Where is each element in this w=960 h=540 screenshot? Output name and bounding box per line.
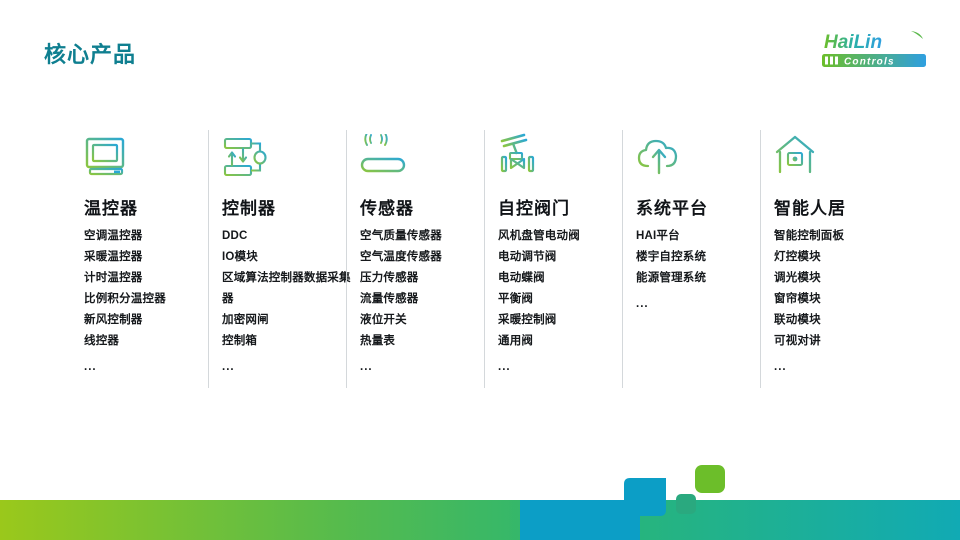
list-item: 电动蝶阀 bbox=[498, 268, 628, 289]
list-item-more: ... bbox=[84, 357, 214, 378]
bottom-gradient-bar bbox=[0, 500, 960, 540]
controller-network-icon bbox=[222, 128, 352, 178]
list-item: 电动调节阀 bbox=[498, 247, 628, 268]
list-item: 流量传感器 bbox=[360, 289, 490, 310]
list-item: 空气质量传感器 bbox=[360, 226, 490, 247]
list-item: 联动模块 bbox=[774, 310, 904, 331]
list-item: 计时温控器 bbox=[84, 268, 214, 289]
list-item: 空气温度传感器 bbox=[360, 247, 490, 268]
list-item: 区域算法控制器数据采集器 bbox=[222, 268, 352, 310]
smart-home-chip-icon bbox=[774, 128, 904, 178]
column-heading: 智能人居 bbox=[774, 194, 904, 219]
list-item: 压力传感器 bbox=[360, 268, 490, 289]
list-item: 空调温控器 bbox=[84, 226, 214, 247]
list-item: HAI平台 bbox=[636, 226, 766, 247]
product-column-platforms: 系统平台 HAI平台 楼宇自控系统 能源管理系统 ... bbox=[636, 128, 774, 396]
product-column-smart-home: 智能人居 智能控制面板 灯控模块 调光模块 窗帘模块 联动模块 可视对讲 ... bbox=[774, 128, 912, 396]
column-heading: 控制器 bbox=[222, 194, 352, 219]
list-item: 新风控制器 bbox=[84, 310, 214, 331]
svg-text:Controls: Controls bbox=[844, 57, 895, 68]
product-column-valves: 自控阀门 风机盘管电动阀 电动调节阀 电动蝶阀 平衡阀 采暖控制阀 通用阀 ..… bbox=[498, 128, 636, 396]
list-item-more: ... bbox=[222, 357, 352, 378]
list-item: 可视对讲 bbox=[774, 331, 904, 352]
list-item: 热量表 bbox=[360, 331, 490, 352]
list-item-more: ... bbox=[774, 357, 904, 378]
column-heading: 温控器 bbox=[84, 194, 214, 219]
list-item: 通用阀 bbox=[498, 331, 628, 352]
column-item-list: 风机盘管电动阀 电动调节阀 电动蝶阀 平衡阀 采暖控制阀 通用阀 ... bbox=[498, 226, 628, 378]
list-item-more: ... bbox=[636, 294, 766, 315]
list-item: 窗帘模块 bbox=[774, 289, 904, 310]
svg-text:HaiLin: HaiLin bbox=[824, 32, 882, 53]
product-column-sensors: 传感器 空气质量传感器 空气温度传感器 压力传感器 流量传感器 液位开关 热量表… bbox=[360, 128, 498, 396]
list-item: IO模块 bbox=[222, 247, 352, 268]
cloud-upload-icon bbox=[636, 128, 766, 178]
list-item: 控制箱 bbox=[222, 331, 352, 352]
list-item: 楼宇自控系统 bbox=[636, 247, 766, 268]
product-column-thermostats: 温控器 空调温控器 采暖温控器 计时温控器 比例积分温控器 新风控制器 线控器 … bbox=[84, 128, 222, 396]
list-item: 风机盘管电动阀 bbox=[498, 226, 628, 247]
column-divider bbox=[622, 130, 623, 388]
list-item-more: ... bbox=[498, 357, 628, 378]
list-item: 灯控模块 bbox=[774, 247, 904, 268]
list-item: 平衡阀 bbox=[498, 289, 628, 310]
list-item: 采暖控制阀 bbox=[498, 310, 628, 331]
control-valve-icon bbox=[498, 128, 628, 178]
column-item-list: HAI平台 楼宇自控系统 能源管理系统 ... bbox=[636, 226, 766, 315]
list-item: 智能控制面板 bbox=[774, 226, 904, 247]
list-item: 加密网闸 bbox=[222, 310, 352, 331]
column-heading: 系统平台 bbox=[636, 194, 766, 219]
product-column-controllers: 控制器 DDC IO模块 区域算法控制器数据采集器 加密网闸 控制箱 ... bbox=[222, 128, 360, 396]
column-item-list: 智能控制面板 灯控模块 调光模块 窗帘模块 联动模块 可视对讲 ... bbox=[774, 226, 904, 378]
list-item-more: ... bbox=[360, 357, 490, 378]
column-item-list: 空调温控器 采暖温控器 计时温控器 比例积分温控器 新风控制器 线控器 ... bbox=[84, 226, 214, 378]
column-divider bbox=[346, 130, 347, 388]
column-item-list: DDC IO模块 区域算法控制器数据采集器 加密网闸 控制箱 ... bbox=[222, 226, 352, 378]
page-title: 核心产品 bbox=[44, 37, 136, 69]
wireless-sensor-icon bbox=[360, 128, 490, 178]
list-item: 比例积分温控器 bbox=[84, 289, 214, 310]
monitor-thermostat-icon bbox=[84, 128, 214, 178]
column-divider bbox=[760, 130, 761, 388]
list-item: 采暖温控器 bbox=[84, 247, 214, 268]
column-item-list: 空气质量传感器 空气温度传感器 压力传感器 流量传感器 液位开关 热量表 ... bbox=[360, 226, 490, 378]
column-divider bbox=[208, 130, 209, 388]
list-item: 能源管理系统 bbox=[636, 268, 766, 289]
column-heading: 自控阀门 bbox=[498, 194, 628, 219]
list-item: 液位开关 bbox=[360, 310, 490, 331]
list-item: 调光模块 bbox=[774, 268, 904, 289]
hailin-controls-logo: HaiLin Controls bbox=[808, 28, 932, 72]
list-item: 线控器 bbox=[84, 331, 214, 352]
list-item: DDC bbox=[222, 226, 352, 247]
column-heading: 传感器 bbox=[360, 194, 490, 219]
column-divider bbox=[484, 130, 485, 388]
product-columns: 温控器 空调温控器 采暖温控器 计时温控器 比例积分温控器 新风控制器 线控器 … bbox=[84, 128, 914, 396]
